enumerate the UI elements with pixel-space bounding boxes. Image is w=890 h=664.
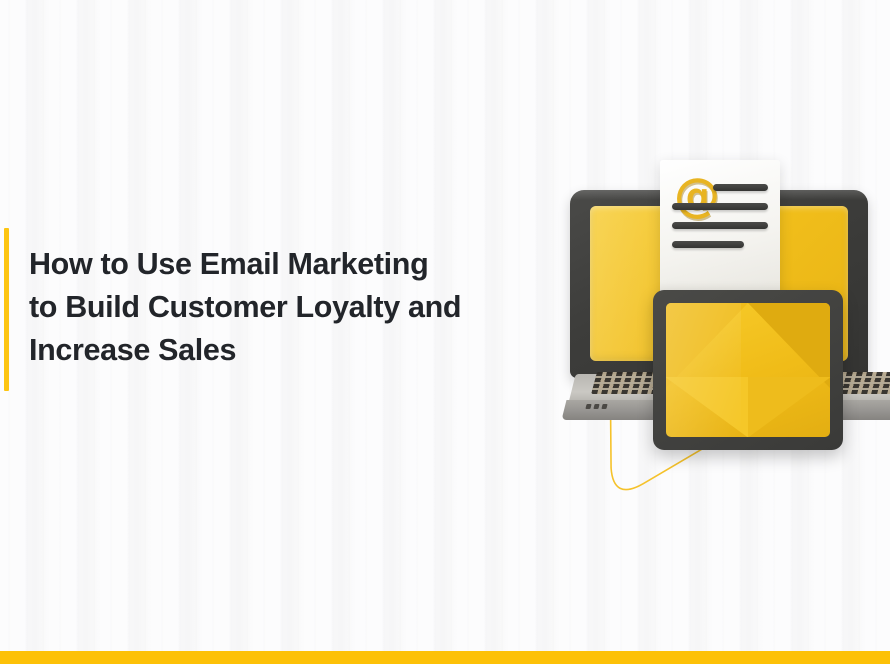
laptop-side-ports <box>585 404 612 409</box>
letter-line <box>672 241 744 248</box>
letter-line <box>672 203 768 210</box>
page-title: How to Use Email Marketing to Build Cust… <box>29 243 539 372</box>
email-marketing-banner: How to Use Email Marketing to Build Cust… <box>0 0 890 664</box>
envelope-body <box>666 303 830 437</box>
bottom-accent-strip <box>0 651 890 664</box>
left-accent-bar <box>4 228 9 391</box>
envelope-flap-right <box>748 303 830 388</box>
letter-line <box>672 222 768 229</box>
letter-line <box>713 184 768 191</box>
envelope-3d <box>653 290 843 450</box>
envelope-shine <box>666 303 741 437</box>
letter-text-lines <box>672 212 768 260</box>
email-marketing-illustration: @ <box>540 100 890 520</box>
